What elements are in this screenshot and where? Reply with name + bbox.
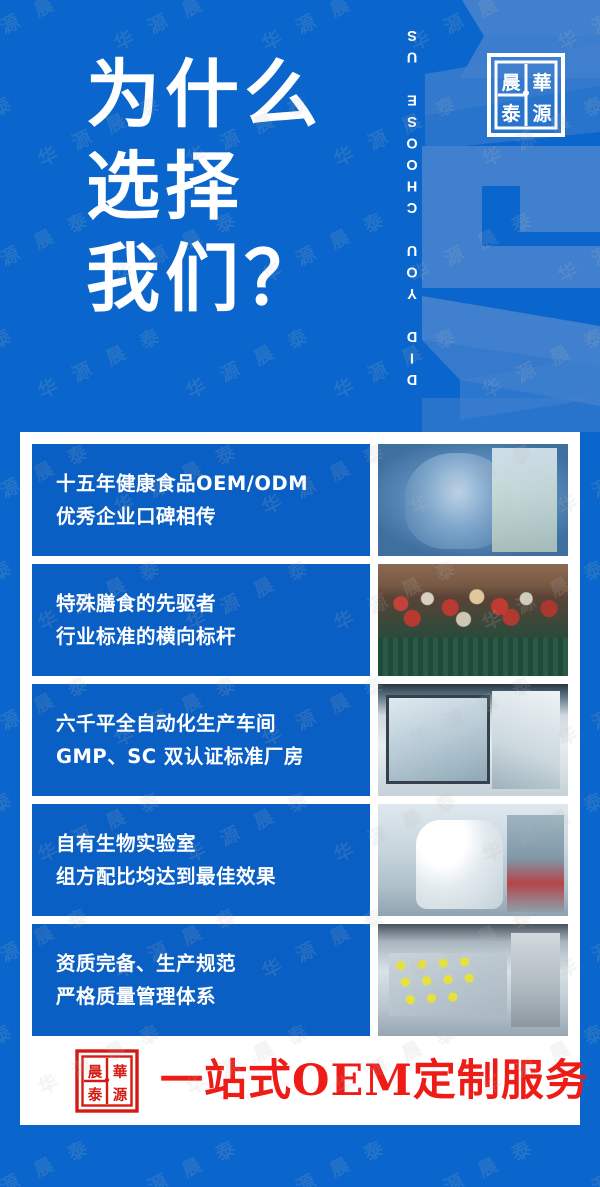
- feature-text-block: 自有生物实验室 组方配比均达到最佳效果: [32, 804, 370, 916]
- svg-text:華: 華: [532, 71, 551, 94]
- page-title: 为什么 选择 我们？: [86, 50, 323, 325]
- svg-text:源: 源: [113, 1086, 128, 1104]
- svg-text:泰: 泰: [500, 102, 521, 125]
- footer-slogan: 一站式OEM定制服务: [160, 1060, 589, 1103]
- watermark-text: 华 源 晨 泰: [257, 1131, 393, 1187]
- feature-text-block: 十五年健康食品OEM/ODM 优秀企业口碑相传: [32, 444, 370, 556]
- svg-text:源: 源: [532, 102, 551, 125]
- feature-photo: [378, 924, 568, 1036]
- feature-photo: [378, 564, 568, 676]
- list-item[interactable]: 十五年健康食品OEM/ODM 优秀企业口碑相传: [32, 444, 568, 556]
- poster-header: 为什么 选择 我们？ DID YOU CHOOSE US 晨 泰 華 源: [0, 0, 600, 432]
- feature-line-2: 行业标准的横向标杆: [56, 622, 370, 651]
- watermark-text: 华 源 晨 泰: [0, 783, 21, 868]
- feature-photo: [378, 684, 568, 796]
- watermark-text: 华 源 晨 泰: [0, 1131, 97, 1187]
- watermark-text: 华 源 晨 泰: [553, 1131, 600, 1187]
- feature-line-2: GMP、SC 双认证标准厂房: [56, 742, 370, 771]
- feature-line-1: 资质完备、生产规范: [56, 949, 370, 978]
- list-item[interactable]: 资质完备、生产规范 严格质量管理体系: [32, 924, 568, 1036]
- feature-text-block: 资质完备、生产规范 严格质量管理体系: [32, 924, 370, 1036]
- feature-line-2: 组方配比均达到最佳效果: [56, 862, 370, 891]
- feature-text-block: 特殊膳食的先驱者 行业标准的横向标杆: [32, 564, 370, 676]
- svg-text:華: 華: [113, 1063, 128, 1081]
- brand-seal-red-icon: 晨 泰 華 源: [74, 1048, 140, 1114]
- vertical-english-tagline: DID YOU CHOOSE US: [399, 14, 425, 394]
- watermark-text: 华 源 晨 泰: [405, 1131, 541, 1187]
- feature-line-2: 严格质量管理体系: [56, 982, 370, 1011]
- feature-photo: [378, 804, 568, 916]
- feature-line-1: 自有生物实验室: [56, 829, 370, 858]
- feature-line-1: 十五年健康食品OEM/ODM: [56, 469, 370, 498]
- features-list: 十五年健康食品OEM/ODM 优秀企业口碑相传 特殊膳食的先驱者 行业标准的横向…: [32, 444, 568, 1036]
- feature-line-1: 六千平全自动化生产车间: [56, 709, 370, 738]
- title-line-3: 我们？: [86, 234, 323, 326]
- watermark-text: 华 源 晨 泰: [109, 1131, 245, 1187]
- title-line-2: 选择: [86, 142, 323, 234]
- list-item[interactable]: 六千平全自动化生产车间 GMP、SC 双认证标准厂房: [32, 684, 568, 796]
- brand-seal-icon: 晨 泰 華 源: [484, 49, 568, 141]
- footer-banner: 晨 泰 華 源 一站式OEM定制服务: [32, 1044, 568, 1118]
- svg-text:晨: 晨: [501, 72, 521, 94]
- list-item[interactable]: 特殊膳食的先驱者 行业标准的横向标杆: [32, 564, 568, 676]
- feature-line-1: 特殊膳食的先驱者: [56, 589, 370, 618]
- svg-text:泰: 泰: [88, 1086, 103, 1104]
- feature-photo: [378, 444, 568, 556]
- poster-root: 为什么 选择 我们？ DID YOU CHOOSE US 晨 泰 華 源: [0, 0, 600, 1187]
- svg-text:晨: 晨: [88, 1063, 103, 1081]
- list-item[interactable]: 自有生物实验室 组方配比均达到最佳效果: [32, 804, 568, 916]
- watermark-text: 华 源 晨 泰: [0, 1015, 21, 1100]
- watermark-text: 华 源 晨 泰: [0, 551, 21, 636]
- feature-text-block: 六千平全自动化生产车间 GMP、SC 双认证标准厂房: [32, 684, 370, 796]
- title-line-1: 为什么: [86, 50, 323, 142]
- features-frame: 十五年健康食品OEM/ODM 优秀企业口碑相传 特殊膳食的先驱者 行业标准的横向…: [20, 432, 580, 1125]
- feature-line-2: 优秀企业口碑相传: [56, 502, 370, 531]
